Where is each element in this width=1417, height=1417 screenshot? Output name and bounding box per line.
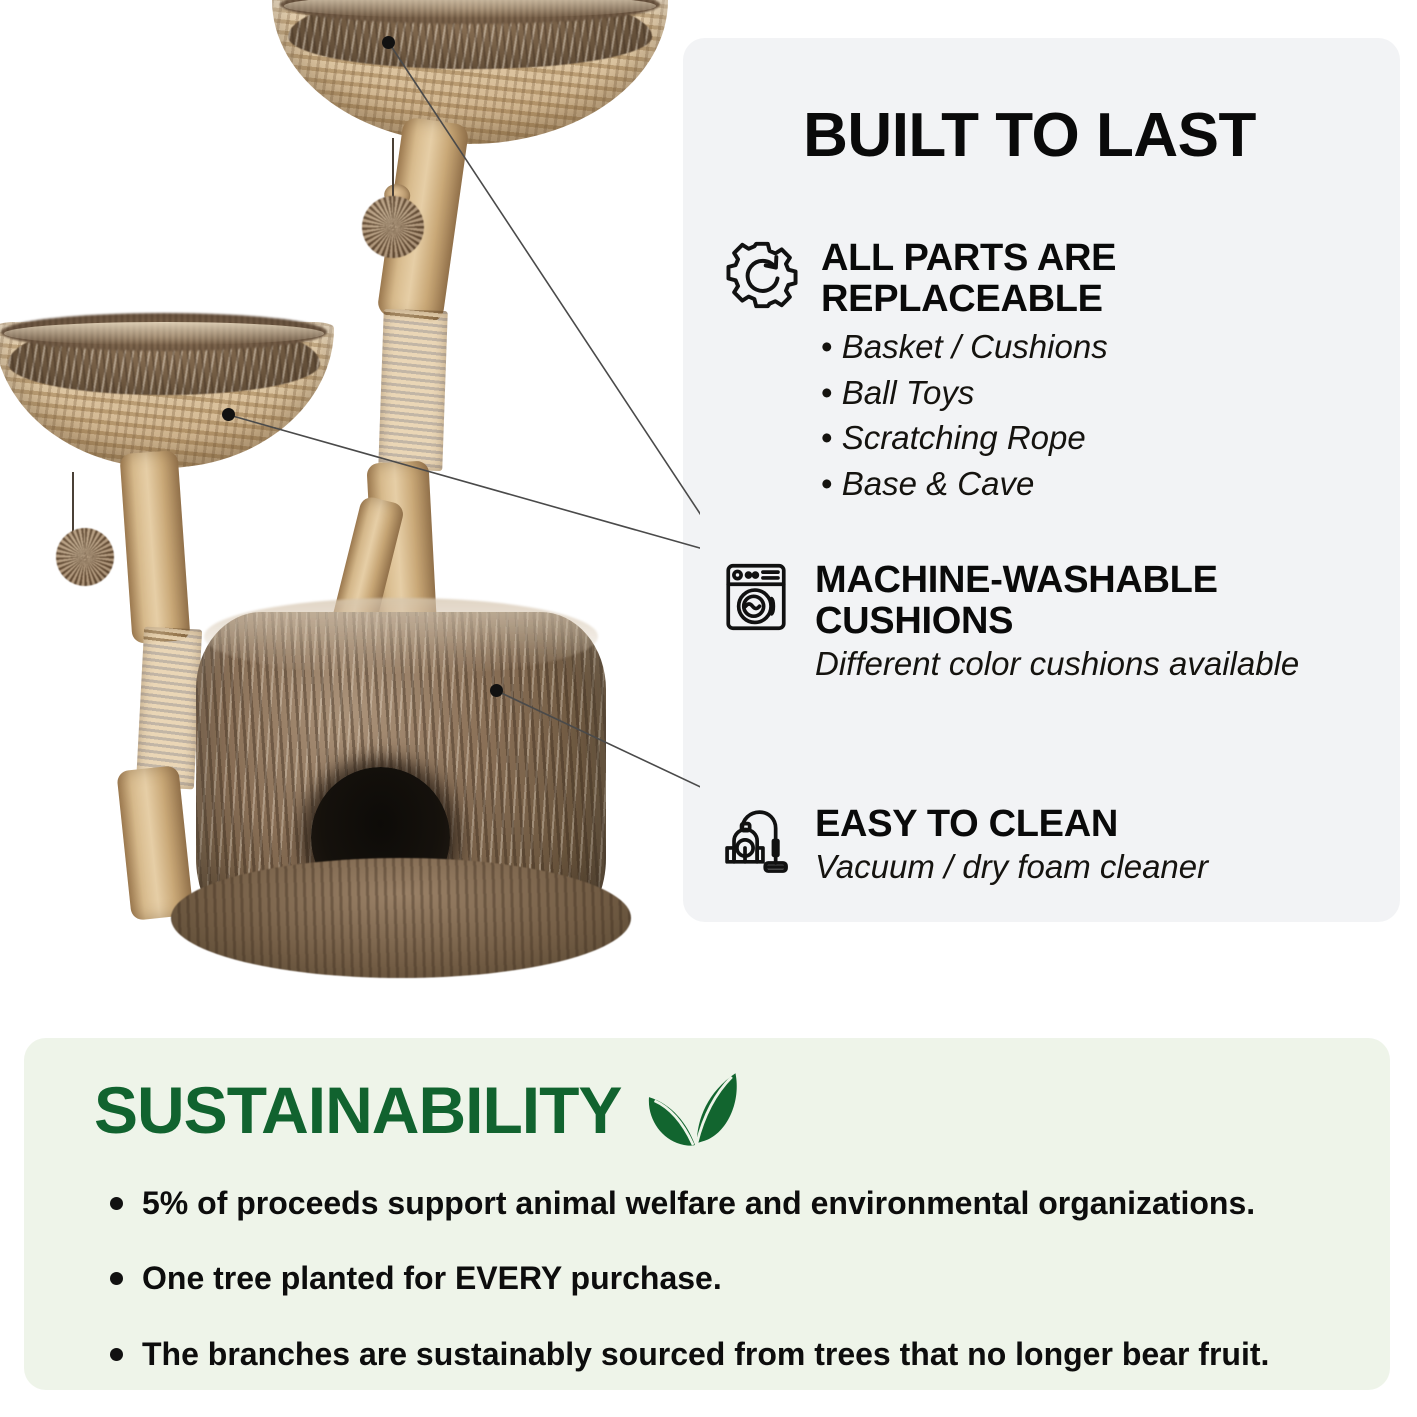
sustainability-title: SUSTAINABILITY [94, 1072, 621, 1148]
feature-1-heading: ALL PARTS ARE REPLACEABLE [821, 238, 1400, 320]
sustainability-panel: SUSTAINABILITY 5% of proceeds support an… [24, 1038, 1390, 1390]
callout-dot-top-basket [382, 36, 395, 49]
list-item: Scratching Rope [821, 415, 1400, 461]
feature-3-heading: EASY TO CLEAN [815, 804, 1208, 845]
list-item: One tree planted for EVERY purchase. [94, 1259, 1350, 1297]
list-item: Ball Toys [821, 370, 1400, 416]
callout-lines [0, 0, 700, 1020]
callout-dot-cave [490, 684, 503, 697]
built-to-last-panel: BUILT TO LAST ALL PARTS ARE REPLACEABLE … [683, 38, 1400, 922]
product-photo [0, 0, 700, 1020]
list-item: Basket / Cushions [821, 324, 1400, 370]
feature-2-heading: MACHINE-WASHABLE CUSHIONS [815, 560, 1299, 642]
list-item: The branches are sustainably sourced fro… [94, 1335, 1350, 1373]
washing-machine-icon [719, 560, 793, 634]
infographic-stage: BUILT TO LAST ALL PARTS ARE REPLACEABLE … [0, 0, 1417, 1417]
list-item: Base & Cave [821, 461, 1400, 507]
feature-all-parts-replaceable: ALL PARTS ARE REPLACEABLE Basket / Cushi… [725, 238, 1400, 506]
vacuum-cleaner-icon [719, 804, 793, 878]
replaceable-parts-list: Basket / Cushions Ball Toys Scratching R… [821, 324, 1400, 506]
feature-2-subtitle: Different color cushions available [815, 644, 1299, 684]
gear-refresh-icon [725, 238, 799, 312]
list-item: 5% of proceeds support animal welfare an… [94, 1184, 1350, 1222]
callout-dot-left-basket [222, 408, 235, 421]
leaf-icon [639, 1064, 751, 1156]
feature-machine-washable-cushions: MACHINE-WASHABLE CUSHIONS Different colo… [719, 560, 1299, 684]
feature-3-subtitle: Vacuum / dry foam cleaner [815, 847, 1208, 887]
built-to-last-title: BUILT TO LAST [683, 100, 1376, 171]
feature-easy-to-clean: EASY TO CLEAN Vacuum / dry foam cleaner [719, 804, 1208, 887]
sustainability-header: SUSTAINABILITY [94, 1064, 751, 1156]
sustainability-bullet-list: 5% of proceeds support animal welfare an… [94, 1184, 1350, 1410]
